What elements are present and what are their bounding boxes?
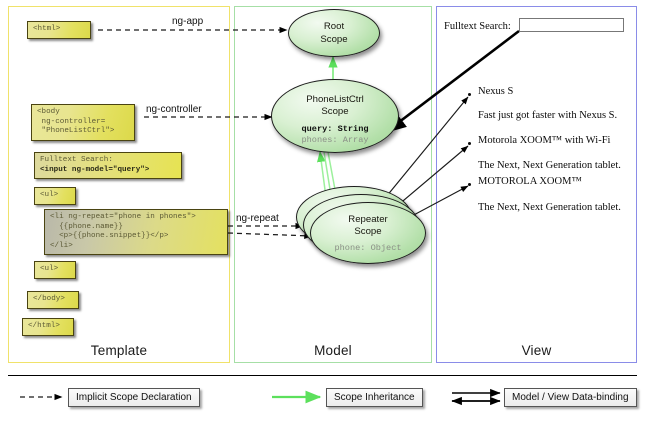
scope-ctrl-prop-phones: phones: Array	[272, 135, 398, 145]
legend-divider	[8, 375, 637, 376]
code-box-html-open[interactable]: <html>	[27, 21, 91, 39]
view-bullet-2	[468, 142, 471, 145]
scope-phonelistctrl[interactable]: PhoneListCtrl Scope query: String phones…	[271, 79, 399, 153]
code-box-body-open[interactable]: <body ng-controller= "PhoneListCtrl">	[31, 104, 135, 141]
view-search-input[interactable]	[519, 18, 624, 32]
panel-model-label: Model	[235, 343, 431, 358]
scope-root[interactable]: Root Scope	[288, 9, 380, 57]
view-search-label: Fulltext Search:	[444, 21, 511, 32]
code-box-ul-close[interactable]: <ul>	[34, 261, 76, 279]
code-box-ul-open[interactable]: <ul>	[34, 187, 76, 205]
code-box-search-line2: <input ng-model="query">	[40, 166, 149, 174]
code-box-search-input[interactable]: Fulltext Search:<input ng-model="query">	[34, 152, 182, 179]
view-item-snippet-3: The Next, Next Generation tablet.	[478, 202, 621, 213]
scope-ctrl-title-2: Scope	[272, 106, 398, 118]
scope-ctrl-title-1: PhoneListCtrl	[272, 94, 398, 106]
view-item-name-1: Nexus S	[478, 86, 513, 97]
scope-repeater-title-2: Scope	[311, 226, 425, 238]
edge-label-ng-controller: ng-controller	[146, 104, 202, 115]
panel-template-label: Template	[9, 343, 229, 358]
panel-model: Model	[234, 6, 432, 363]
scope-repeater-title-1: Repeater	[311, 214, 425, 226]
code-box-html-close[interactable]: </html>	[22, 318, 74, 336]
legend-implicit-scope-declaration: Implicit Scope Declaration	[68, 388, 200, 407]
scope-root-title-2: Scope	[289, 34, 379, 46]
scope-repeater[interactable]: Repeater Scope phone: Object	[310, 202, 426, 264]
scope-root-title-1: Root	[289, 21, 379, 33]
view-item-name-3: MOTOROLA XOOM™	[478, 176, 582, 187]
legend-scope-inheritance: Scope Inheritance	[326, 388, 423, 407]
code-box-search-line1: Fulltext Search:	[40, 156, 113, 164]
view-item-snippet-2: The Next, Next Generation tablet.	[478, 160, 621, 171]
scope-repeater-prop-phone: phone: Object	[311, 243, 425, 253]
diagram-canvas: Template Model View	[0, 0, 645, 425]
panel-view-label: View	[437, 343, 636, 358]
view-bullet-3	[468, 183, 471, 186]
view-item-name-2: Motorola XOOM™ with Wi-Fi	[478, 135, 610, 146]
code-box-body-close[interactable]: </body>	[27, 291, 79, 309]
edge-label-ng-repeat: ng-repeat	[236, 213, 279, 224]
edge-label-ng-app: ng-app	[172, 16, 203, 27]
legend-model-view-data-binding: Model / View Data-binding	[504, 388, 637, 407]
panel-template: Template	[8, 6, 230, 363]
code-box-li-ng-repeat[interactable]: <li ng-repeat="phone in phones"> {{phone…	[44, 209, 228, 255]
scope-ctrl-prop-query: query: String	[272, 124, 398, 134]
view-item-snippet-1: Fast just got faster with Nexus S.	[478, 110, 617, 121]
view-bullet-1	[468, 93, 471, 96]
